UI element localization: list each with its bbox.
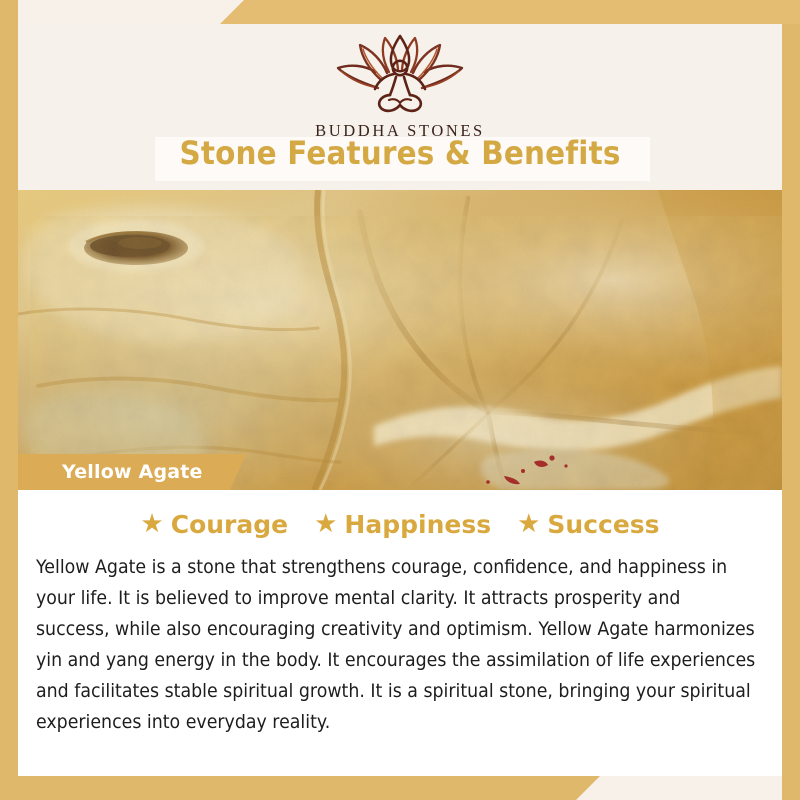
header: BUDDHA STONES Stone Features & Benefits	[18, 24, 782, 190]
keyword-happiness: ★ Happiness	[314, 510, 491, 539]
yellow-agate-texture	[18, 190, 782, 490]
brand-logo: BUDDHA STONES	[18, 32, 782, 141]
keyword-label: Courage	[171, 510, 288, 539]
keyword-label: Happiness	[344, 510, 491, 539]
benefit-keywords: ★ Courage ★ Happiness ★ Success	[18, 490, 782, 539]
stone-name-label: Yellow Agate	[18, 461, 203, 483]
stone-image: Yellow Agate	[18, 190, 782, 490]
keyword-label: Success	[547, 510, 659, 539]
page-title: Stone Features & Benefits	[49, 134, 752, 172]
gold-accent-top-right	[220, 0, 800, 24]
star-icon: ★	[517, 511, 540, 537]
gold-border-right	[782, 0, 800, 800]
content-panel: ★ Courage ★ Happiness ★ Success Yellow A…	[18, 490, 782, 776]
keyword-success: ★ Success	[517, 510, 659, 539]
gold-accent-bottom-left	[0, 776, 600, 800]
star-icon: ★	[314, 511, 337, 537]
lotus-meditation-icon	[334, 32, 466, 119]
gold-border-left	[0, 0, 18, 800]
stone-description: Yellow Agate is a stone that strengthens…	[36, 552, 758, 738]
star-icon: ★	[140, 511, 163, 537]
keyword-courage: ★ Courage	[140, 510, 288, 539]
stone-infographic: BUDDHA STONES Stone Features & Benefits	[0, 0, 800, 800]
stone-name-badge: Yellow Agate	[18, 454, 246, 490]
